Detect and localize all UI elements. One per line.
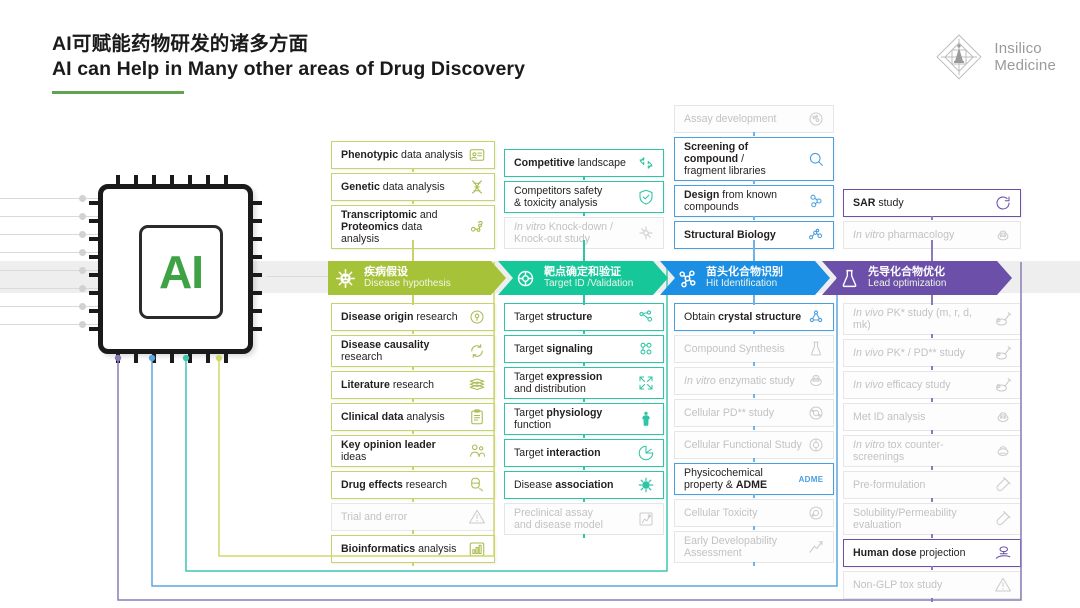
card-connector bbox=[583, 534, 585, 538]
chip-pin-left-6 bbox=[89, 309, 103, 313]
assay-dish-icon bbox=[806, 109, 826, 129]
capability-card-label: Clinical data analysis bbox=[341, 411, 467, 423]
capability-card[interactable]: Clinical data analysis bbox=[331, 403, 495, 431]
pipeline-stage-labels: 先导化合物优化Lead optimization bbox=[866, 267, 946, 289]
chip-pin-bottom-5 bbox=[206, 349, 210, 363]
cell-tox-icon bbox=[806, 503, 826, 523]
magnifier-icon bbox=[806, 149, 826, 169]
capability-card-label: Early DevelopabilityAssessment bbox=[684, 535, 806, 559]
capability-card[interactable]: Human dose projection bbox=[843, 539, 1021, 567]
card-connector bbox=[931, 598, 933, 602]
chip-input-dot-4 bbox=[79, 267, 86, 274]
card-connector bbox=[753, 562, 755, 566]
card-connector bbox=[412, 168, 414, 172]
capability-card-label: Pre-formulation bbox=[853, 479, 993, 491]
cell-func-icon bbox=[806, 435, 826, 455]
pipeline-stage-lead-optimization[interactable]: 先导化合物优化Lead optimization bbox=[822, 261, 1012, 295]
card-connector bbox=[412, 562, 414, 566]
card-connector bbox=[583, 398, 585, 402]
capability-card-label: Cellular Toxicity bbox=[684, 507, 806, 519]
capability-card-label: Non-GLP tox study bbox=[853, 579, 993, 591]
card-connector bbox=[753, 132, 755, 136]
chip-pin-top-5 bbox=[206, 175, 210, 189]
chip-pin-top-0 bbox=[116, 175, 120, 189]
capability-card-label: Disease association bbox=[514, 479, 636, 491]
capability-card[interactable]: In vivo PK* study (m, r, d, mk) bbox=[843, 303, 1021, 335]
expand-icon bbox=[636, 373, 656, 393]
trend-icon bbox=[806, 537, 826, 557]
compound-design-icon bbox=[806, 191, 826, 211]
vial-icon bbox=[993, 509, 1013, 529]
chip-input-line-6 bbox=[0, 306, 108, 307]
capability-card-label: Cellular PD** study bbox=[684, 407, 806, 419]
column-trunk-top bbox=[931, 240, 933, 262]
warning-icon bbox=[467, 507, 487, 527]
column-below-disease-hypothesis: Disease origin researchDisease causality… bbox=[331, 303, 495, 567]
molecule-icon bbox=[670, 268, 704, 289]
chip-pin-bottom-2 bbox=[152, 349, 156, 363]
sar-refresh-icon bbox=[993, 193, 1013, 213]
chip-pin-bottom-3 bbox=[170, 349, 174, 363]
page-title-cn: AI可赋能药物研发的诸多方面 bbox=[52, 27, 308, 56]
card-connector bbox=[753, 394, 755, 398]
chip-input-line-3 bbox=[0, 252, 108, 253]
capability-card-label: Obtain crystal structure bbox=[684, 311, 806, 323]
ai-chip-label: AI bbox=[142, 228, 220, 316]
human-body-icon bbox=[636, 409, 656, 429]
card-connector bbox=[931, 498, 933, 502]
capability-card[interactable]: Non-GLP tox study bbox=[843, 571, 1021, 599]
card-connector bbox=[753, 494, 755, 498]
capability-card-label: In vitro Knock-down /Knock-out study bbox=[514, 221, 636, 245]
title-underline bbox=[52, 91, 184, 94]
capability-card[interactable]: Cellular PD** study bbox=[674, 399, 834, 427]
chip-pin-top-6 bbox=[224, 175, 228, 189]
card-connector bbox=[412, 330, 414, 334]
chip-input-line-4 bbox=[0, 270, 108, 271]
interaction-icon bbox=[636, 443, 656, 463]
card-connector bbox=[583, 212, 585, 216]
capability-card[interactable]: Solubility/Permeability evaluation bbox=[843, 503, 1021, 535]
chip-pin-left-2 bbox=[89, 237, 103, 241]
capability-card[interactable]: Design from knowncompounds bbox=[674, 185, 834, 217]
capability-card-label: Compound Synthesis bbox=[684, 343, 806, 355]
pill-hand-icon bbox=[467, 475, 487, 495]
capability-card-label: Competitive landscape bbox=[514, 157, 636, 169]
pipeline-stage-label-cn: 疾病假设 bbox=[364, 267, 451, 279]
virus-icon bbox=[328, 268, 362, 289]
capability-card[interactable]: Phenotypic data analysis bbox=[331, 141, 495, 169]
card-connector bbox=[583, 176, 585, 180]
card-connector bbox=[753, 526, 755, 530]
capability-card[interactable]: Bioinformatics analysis bbox=[331, 535, 495, 563]
chip-pin-right-5 bbox=[248, 291, 262, 295]
card-connector bbox=[753, 180, 755, 184]
chip-pin-left-5 bbox=[89, 291, 103, 295]
id-card-icon bbox=[467, 145, 487, 165]
capability-card[interactable]: Disease origin research bbox=[331, 303, 495, 331]
chip-input-dot-1 bbox=[79, 213, 86, 220]
pharma-icon bbox=[993, 225, 1013, 245]
chip-pin-right-3 bbox=[248, 255, 262, 259]
chip-input-dot-3 bbox=[79, 249, 86, 256]
chip-input-dot-6 bbox=[79, 303, 86, 310]
shield-check-icon bbox=[636, 187, 656, 207]
pipeline-stage-labels: 靶点确定和验证Target ID /Validation bbox=[542, 267, 633, 289]
capability-card-label: Human dose projection bbox=[853, 547, 993, 559]
card-connector bbox=[583, 330, 585, 334]
pipeline-stage-hit-identification[interactable]: 苗头化合物识别Hit Identification bbox=[660, 261, 830, 295]
capability-card[interactable]: SAR study bbox=[843, 189, 1021, 217]
chip-input-line-7 bbox=[0, 324, 108, 325]
chip-input-line-5 bbox=[0, 288, 108, 289]
capability-card[interactable]: Early DevelopabilityAssessment bbox=[674, 531, 834, 563]
chip-pin-left-4 bbox=[89, 273, 103, 277]
card-connector bbox=[583, 434, 585, 438]
capability-card[interactable]: In vivo efficacy study bbox=[843, 371, 1021, 399]
card-connector bbox=[412, 398, 414, 402]
column-below-lead-optimization: In vivo PK* study (m, r, d, mk)In vivo P… bbox=[843, 303, 1021, 603]
capability-card-label: Bioinformatics analysis bbox=[341, 543, 467, 555]
chip-pin-top-2 bbox=[152, 175, 156, 189]
mouse-icon bbox=[993, 343, 1013, 363]
capability-card-label: Key opinion leader ideas bbox=[341, 439, 467, 463]
chip-pin-right-2 bbox=[248, 237, 262, 241]
card-connector bbox=[583, 466, 585, 470]
crystal-icon bbox=[806, 307, 826, 327]
tox-screen-icon bbox=[993, 441, 1013, 461]
chip-pin-top-3 bbox=[170, 175, 174, 189]
chip-pin-right-4 bbox=[248, 273, 262, 277]
flask-small-icon bbox=[806, 339, 826, 359]
pipeline-stage-labels: 疾病假设Disease hypothesis bbox=[362, 267, 451, 289]
card-connector bbox=[931, 466, 933, 470]
enzyme-icon bbox=[806, 371, 826, 391]
pipeline-stage-label-en: Disease hypothesis bbox=[364, 279, 451, 290]
chip-input-line-1 bbox=[0, 216, 108, 217]
capability-card-label: In vitro tox counter-screenings bbox=[853, 439, 993, 463]
capability-card-label: Transcriptomic andProteomics data analys… bbox=[341, 209, 467, 245]
column-above-lead-optimization: SAR studyIn vitro pharmacology bbox=[843, 0, 1021, 253]
chip-pin-right-7 bbox=[248, 327, 262, 331]
pipeline-stage-target-id-validation[interactable]: 靶点确定和验证Target ID /Validation bbox=[498, 261, 668, 295]
chip-pin-bottom-6 bbox=[224, 349, 228, 363]
chip-pin-right-6 bbox=[248, 309, 262, 313]
capability-card[interactable]: Assay development bbox=[674, 105, 834, 133]
column-trunk-top bbox=[583, 240, 585, 262]
card-connector bbox=[931, 216, 933, 220]
discovery-pipeline: 疾病假设Disease hypothesis靶点确定和验证Target ID /… bbox=[328, 261, 1028, 295]
capability-card[interactable]: In vitro tox counter-screenings bbox=[843, 435, 1021, 467]
capability-card-label: Genetic data analysis bbox=[341, 181, 467, 193]
capability-card-label: Target physiology function bbox=[514, 407, 636, 431]
ai-chip-core: AI bbox=[139, 225, 223, 319]
capability-card[interactable]: Disease association bbox=[504, 471, 664, 499]
vial-icon bbox=[993, 475, 1013, 495]
capability-card[interactable]: Target structure bbox=[504, 303, 664, 331]
cell-icon bbox=[806, 403, 826, 423]
card-connector bbox=[412, 466, 414, 470]
capability-card[interactable]: Competitive landscape bbox=[504, 149, 664, 177]
column-above-hit-identification: Assay developmentScreening of compound /… bbox=[674, 0, 834, 253]
clipboard-icon bbox=[467, 407, 487, 427]
capability-card-label: Phenotypic data analysis bbox=[341, 149, 467, 161]
chip-output-line bbox=[267, 276, 329, 277]
mouse-icon bbox=[993, 309, 1013, 329]
chip-input-dot-5 bbox=[79, 285, 86, 292]
capability-card[interactable]: Screening of compound /fragment librarie… bbox=[674, 137, 834, 181]
column-below-hit-identification: Obtain crystal structureCompound Synthes… bbox=[674, 303, 834, 567]
card-connector bbox=[412, 498, 414, 502]
capability-card-label: Solubility/Permeability evaluation bbox=[853, 507, 993, 531]
capability-card[interactable]: Drug effects research bbox=[331, 471, 495, 499]
dna-icon bbox=[467, 177, 487, 197]
card-connector bbox=[931, 366, 933, 370]
chip-pin-right-1 bbox=[248, 219, 262, 223]
card-connector bbox=[931, 430, 933, 434]
mouse-icon bbox=[993, 375, 1013, 395]
column-above-target-id-validation: Competitive landscapeCompetitors safety&… bbox=[504, 0, 664, 253]
capability-card-label: Literature research bbox=[341, 379, 467, 391]
capability-card-label: In vivo PK* study (m, r, d, mk) bbox=[853, 307, 993, 331]
compare-icon bbox=[636, 153, 656, 173]
card-connector bbox=[753, 458, 755, 462]
column-trunk-top bbox=[753, 240, 755, 262]
dna-edit-icon bbox=[636, 223, 656, 243]
chip-pin-bottom-1 bbox=[134, 349, 138, 363]
card-connector bbox=[931, 566, 933, 570]
chip-input-dot-0 bbox=[79, 195, 86, 202]
chip-pin-right-0 bbox=[248, 201, 262, 205]
capability-card[interactable]: Preclinical assayand disease model bbox=[504, 503, 664, 535]
structure-bio-icon bbox=[806, 225, 826, 245]
card-connector bbox=[412, 430, 414, 434]
card-connector bbox=[583, 498, 585, 502]
pipeline-stage-disease-hypothesis[interactable]: 疾病假设Disease hypothesis bbox=[328, 261, 506, 295]
chip-pin-bottom-0 bbox=[116, 349, 120, 363]
chip-input-line-2 bbox=[0, 234, 108, 235]
met-id-icon bbox=[993, 407, 1013, 427]
capability-card[interactable]: Compound Synthesis bbox=[674, 335, 834, 363]
capability-card-label: Trial and error bbox=[341, 511, 467, 523]
capability-card[interactable]: Key opinion leader ideas bbox=[331, 435, 495, 467]
capability-card-label: In vitro enzymatic study bbox=[684, 375, 806, 387]
cycle-icon bbox=[467, 341, 487, 361]
column-above-disease-hypothesis: Phenotypic data analysisGenetic data ana… bbox=[331, 0, 495, 253]
capability-card[interactable]: Trial and error bbox=[331, 503, 495, 531]
warning-icon bbox=[993, 575, 1013, 595]
card-connector bbox=[753, 216, 755, 220]
card-connector bbox=[931, 534, 933, 538]
column-trunk-top bbox=[412, 240, 414, 262]
capability-card-label: Physicochemicalproperty & ADME bbox=[684, 467, 796, 491]
capability-card[interactable]: Pre-formulation bbox=[843, 471, 1021, 499]
protein-icon bbox=[467, 217, 487, 237]
node-structure-icon bbox=[636, 307, 656, 327]
chip-pin-top-1 bbox=[134, 175, 138, 189]
capability-card[interactable]: Met ID analysis bbox=[843, 403, 1021, 431]
capability-card[interactable]: Obtain crystal structure bbox=[674, 303, 834, 331]
capability-card[interactable]: Physicochemicalproperty & ADMEADME bbox=[674, 463, 834, 495]
capability-card-label: In vivo efficacy study bbox=[853, 379, 993, 391]
capability-card-label: In vivo PK* / PD** study bbox=[853, 347, 993, 359]
card-connector bbox=[753, 426, 755, 430]
capability-card[interactable]: Disease causality research bbox=[331, 335, 495, 367]
capability-card-label: Disease origin research bbox=[341, 311, 467, 323]
card-connector bbox=[753, 330, 755, 334]
capability-card-label: Preclinical assayand disease model bbox=[514, 507, 636, 531]
chip-pin-left-7 bbox=[89, 327, 103, 331]
capability-card[interactable]: Literature research bbox=[331, 371, 495, 399]
card-connector bbox=[583, 362, 585, 366]
capability-card-label: Target structure bbox=[514, 311, 636, 323]
chip-pin-bottom-4 bbox=[188, 349, 192, 363]
chip-input-dot-2 bbox=[79, 231, 86, 238]
capability-card[interactable]: Target signaling bbox=[504, 335, 664, 363]
signal-nodes-icon bbox=[636, 339, 656, 359]
capability-card-label: Target interaction bbox=[514, 447, 636, 459]
capability-card-label: In vitro pharmacology bbox=[853, 229, 993, 241]
pipeline-stage-label-en: Target ID /Validation bbox=[544, 279, 633, 290]
capability-card-label: Target signaling bbox=[514, 343, 636, 355]
pipeline-stage-label-cn: 靶点确定和验证 bbox=[544, 267, 633, 279]
capability-card[interactable]: Target physiology function bbox=[504, 403, 664, 435]
target-node-icon bbox=[508, 268, 542, 289]
card-connector bbox=[412, 366, 414, 370]
capability-card-label: Drug effects research bbox=[341, 479, 467, 491]
ai-chip: AI bbox=[98, 184, 253, 354]
capability-card-label: Competitors safety& toxicity analysis bbox=[514, 185, 636, 209]
pipeline-stage-label-cn: 先导化合物优化 bbox=[868, 267, 946, 279]
capability-card-label: Cellular Functional Study bbox=[684, 439, 806, 451]
capability-card-label: Structural Biology bbox=[684, 229, 806, 241]
capability-card[interactable]: Cellular Toxicity bbox=[674, 499, 834, 527]
chip-input-line-0 bbox=[0, 198, 108, 199]
capability-card[interactable]: Target expressionand distribution bbox=[504, 367, 664, 399]
capability-card-label: Target expressionand distribution bbox=[514, 371, 636, 395]
capability-card-label: Screening of compound /fragment librarie… bbox=[684, 141, 806, 177]
capability-card[interactable]: Cellular Functional Study bbox=[674, 431, 834, 459]
card-connector bbox=[931, 398, 933, 402]
location-pin-icon bbox=[467, 307, 487, 327]
pipeline-stage-label-en: Lead optimization bbox=[868, 279, 946, 290]
chip-pin-left-1 bbox=[89, 219, 103, 223]
bar-chart-icon bbox=[467, 539, 487, 559]
card-connector bbox=[753, 362, 755, 366]
chip-pin-top-4 bbox=[188, 175, 192, 189]
capability-card-label: Design from knowncompounds bbox=[684, 189, 806, 213]
capability-card[interactable]: Genetic data analysis bbox=[331, 173, 495, 201]
pipeline-stage-label-en: Hit Identification bbox=[706, 279, 783, 290]
capability-card-label: Met ID analysis bbox=[853, 411, 993, 423]
pipeline-stage-labels: 苗头化合物识别Hit Identification bbox=[704, 267, 783, 289]
capability-card[interactable]: In vitro enzymatic study bbox=[674, 367, 834, 395]
column-below-target-id-validation: Target structureTarget signalingTarget e… bbox=[504, 303, 664, 539]
people-icon bbox=[467, 441, 487, 461]
chip-input-dot-7 bbox=[79, 321, 86, 328]
dose-hand-icon bbox=[993, 543, 1013, 563]
adme-badge-icon: ADME bbox=[796, 469, 826, 489]
capability-card-label: Assay development bbox=[684, 113, 806, 125]
card-connector bbox=[412, 530, 414, 534]
flask-icon bbox=[832, 268, 866, 289]
capability-card[interactable]: Competitors safety& toxicity analysis bbox=[504, 181, 664, 213]
capability-card-label: SAR study bbox=[853, 197, 993, 209]
route-disease-hypothesis-tap-dot bbox=[216, 355, 222, 361]
books-icon bbox=[467, 375, 487, 395]
capability-card[interactable]: Target interaction bbox=[504, 439, 664, 467]
capability-card[interactable]: In vivo PK* / PD** study bbox=[843, 339, 1021, 367]
chip-pin-left-3 bbox=[89, 255, 103, 259]
capability-card-label: Disease causality research bbox=[341, 339, 467, 363]
pipeline-stage-label-cn: 苗头化合物识别 bbox=[706, 267, 783, 279]
chip-pin-left-0 bbox=[89, 201, 103, 205]
card-connector bbox=[931, 334, 933, 338]
card-connector bbox=[412, 200, 414, 204]
virus-small-icon bbox=[636, 475, 656, 495]
assay-plot-icon bbox=[636, 509, 656, 529]
